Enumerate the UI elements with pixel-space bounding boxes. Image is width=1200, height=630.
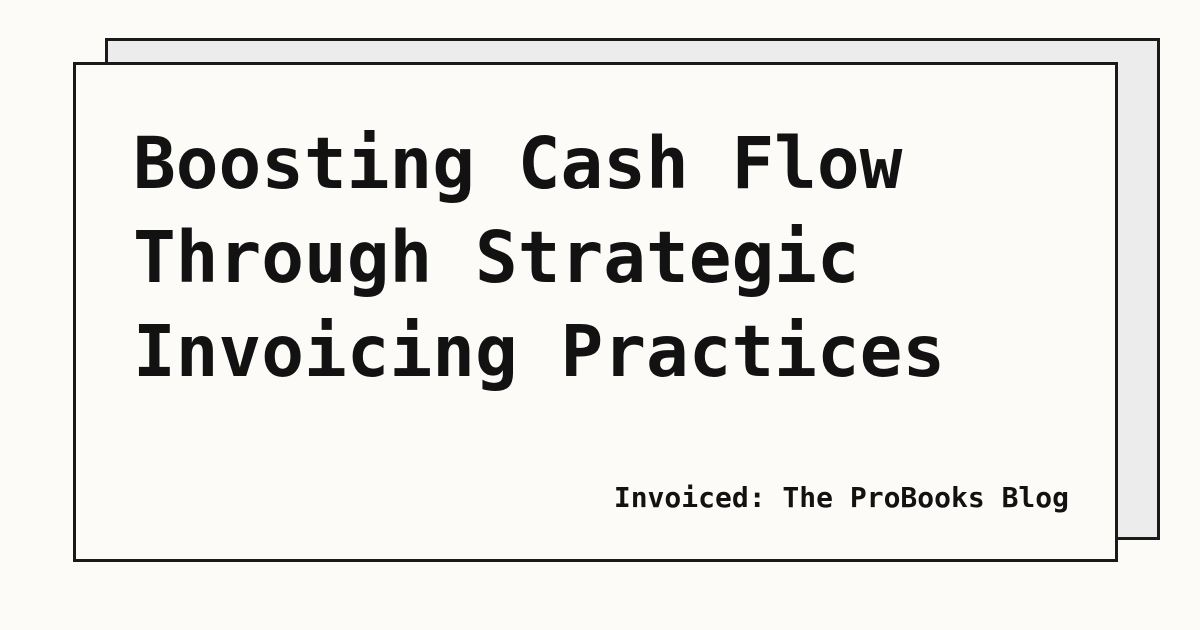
footer-row: Invoiced: The ProBooks Blog <box>133 481 1069 529</box>
title-line-1: Boosting Cash Flow <box>133 117 1069 211</box>
poster-canvas: Boosting Cash Flow Through Strategic Inv… <box>0 0 1200 630</box>
page-title: Boosting Cash Flow Through Strategic Inv… <box>133 117 1069 399</box>
card-front-panel: Boosting Cash Flow Through Strategic Inv… <box>73 62 1118 562</box>
title-line-2: Through Strategic <box>133 211 1069 305</box>
footer-attribution: Invoiced: The ProBooks Blog <box>614 481 1069 515</box>
title-line-3: Invoicing Practices <box>133 305 1069 399</box>
